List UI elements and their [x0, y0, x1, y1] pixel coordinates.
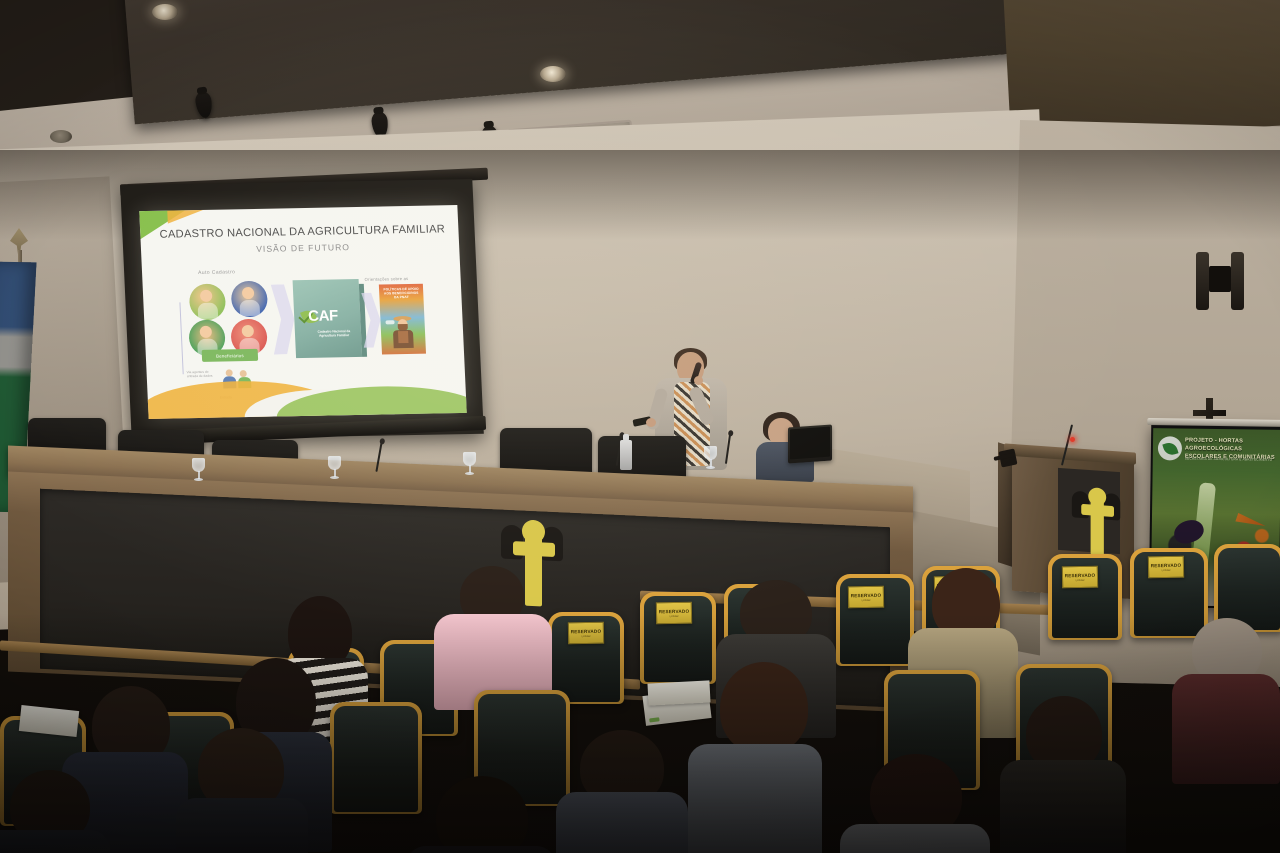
water-glass — [704, 446, 717, 470]
slide-title: CADASTRO NACIONAL DA AGRICULTURA FAMILIA… — [152, 223, 453, 241]
reserved-sign-label: RESERVADO — [1151, 562, 1182, 568]
slide-flow-line — [179, 302, 183, 374]
podium-institutional-logo — [1075, 480, 1106, 534]
slide-subtitle: VISÃO DE FUTURO — [153, 240, 454, 256]
reserved-sign-sublabel: LUGAR — [1076, 578, 1085, 581]
audience-head — [436, 776, 528, 853]
slide-caf-logo-box: CAF Cadastro Nacional da Agricultura Fam… — [293, 279, 363, 358]
cloud-icon — [385, 320, 394, 324]
audience-member — [176, 728, 308, 853]
reserved-sign-sublabel: LUGAR — [582, 634, 591, 637]
audience-head — [720, 662, 808, 754]
presenter-right-hand — [694, 376, 703, 385]
water-glass — [328, 456, 341, 480]
slide-chevron-left — [271, 284, 296, 354]
ceiling-wood-beam-right — [1000, 0, 1280, 140]
slide-right-label: Orientações sobre as — [364, 276, 408, 282]
audience-member — [1172, 618, 1280, 768]
audience-torso — [1000, 760, 1126, 853]
water-glass — [463, 452, 476, 476]
caf-logo-subtitle: Cadastro Nacional da Agricultura Familia… — [309, 329, 359, 339]
slide-illustration-circle — [189, 284, 227, 321]
reserved-sign: RESERVADO LUGAR — [656, 602, 692, 625]
reserved-sign-label: RESERVADO — [571, 628, 602, 634]
reserved-sign-sublabel: LUGAR — [670, 614, 679, 617]
hand-sanitizer-bottle — [620, 440, 632, 470]
audience-member — [688, 662, 822, 852]
audience-member — [406, 776, 556, 853]
reserved-sign-sublabel: LUGAR — [862, 598, 871, 601]
reserved-sign-label: RESERVADO — [1065, 572, 1096, 578]
audience-member — [1000, 696, 1126, 853]
water-glass — [192, 458, 205, 482]
slide-footnote-label: Via agentes de entrada de dados — [187, 370, 221, 379]
banner-top-bar — [1147, 418, 1280, 427]
caf-logo-text: CAF — [308, 307, 338, 325]
audience-member — [840, 754, 990, 853]
wall-speaker-icon — [1196, 252, 1244, 314]
presentation-slide: CADASTRO NACIONAL DA AGRICULTURA FAMILIA… — [139, 205, 466, 419]
audience-member — [556, 730, 688, 853]
audience-area: RESERVADO LUGAR RESERVADO LUGAR RESERVAD… — [0, 540, 1280, 853]
slide-beneficiaries-badge: Beneficiários — [202, 349, 259, 362]
audience-member — [434, 566, 552, 696]
auditorium-photo: CADASTRO NACIONAL DA AGRICULTURA FAMILIA… — [0, 0, 1280, 853]
audience-torso — [176, 798, 308, 853]
audience-torso — [688, 744, 822, 853]
recessed-ceiling-light-icon — [50, 130, 72, 143]
farmer-bib-icon — [398, 331, 409, 343]
slide-policy-card-title: POLÍTICAS DE APOIO AOS BENEFICIÁRIOS DA … — [381, 287, 422, 300]
reserved-sign: RESERVADO LUGAR — [848, 586, 884, 609]
slide-corner-orange — [167, 210, 204, 224]
podium-reading-lamp-icon — [999, 449, 1018, 468]
audience-member — [0, 770, 110, 853]
slide-illustration-circle — [231, 281, 269, 318]
reserved-sign-label: RESERVADO — [851, 592, 882, 598]
laptop-icon — [788, 424, 832, 463]
reserved-sign-label: RESERVADO — [659, 608, 690, 614]
audience-torso — [556, 792, 688, 853]
recessed-ceiling-light-icon — [152, 4, 178, 20]
audience-torso — [0, 830, 110, 853]
reserved-sign: RESERVADO LUGAR — [1062, 566, 1098, 589]
reserved-sign-sublabel: LUGAR — [1162, 568, 1171, 571]
presenter-left-hand — [646, 418, 656, 427]
audience-torso — [406, 846, 556, 853]
slide-left-label: Auto Cadastro — [198, 269, 235, 276]
reserved-sign: RESERVADO LUGAR — [568, 622, 604, 645]
microphone-led-indicator — [1070, 437, 1075, 442]
audience-torso — [1172, 674, 1280, 784]
audience-torso — [840, 824, 990, 853]
reserved-sign: RESERVADO LUGAR — [1148, 556, 1184, 579]
slide-policy-card: POLÍTICAS DE APOIO AOS BENEFICIÁRIOS DA … — [379, 284, 426, 355]
recessed-ceiling-light-icon — [540, 66, 566, 82]
